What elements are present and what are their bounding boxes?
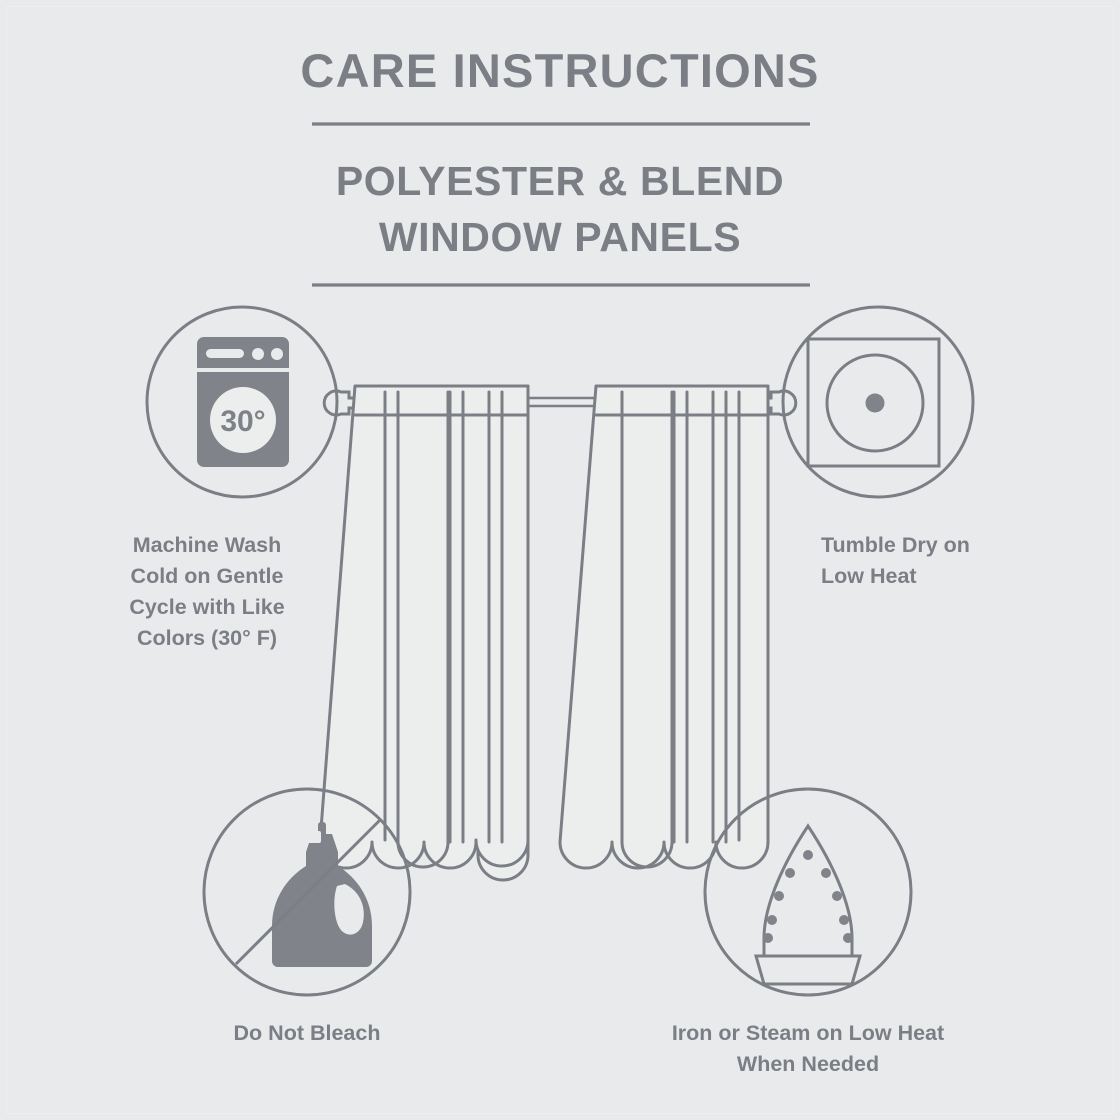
tumble-dry-low-icon	[808, 339, 939, 466]
iron-icon	[756, 826, 860, 984]
caption-line: Colors (30° F)	[137, 626, 277, 650]
caption-line: Tumble Dry on	[821, 533, 970, 557]
subtitle-line-2: WINDOW PANELS	[379, 214, 741, 260]
wash-temperature-badge: 30°	[220, 405, 265, 438]
bleach-bottle-crossed-icon	[236, 820, 380, 967]
do-not-bleach-caption: Do Not Bleach	[234, 1021, 381, 1045]
caption-line: Cycle with Like	[129, 595, 284, 619]
subtitle-line-1: POLYESTER & BLEND	[336, 158, 784, 204]
curtain-rod	[528, 398, 598, 406]
washing-machine-icon: 30°	[197, 337, 289, 467]
caption-line: Cold on Gentle	[131, 564, 284, 588]
caption-line: When Needed	[737, 1052, 879, 1076]
symbol-machine-wash[interactable]: 30° Machine Wash Cold on Gentle Cycle wi…	[129, 307, 337, 650]
caption-line: Iron or Steam on Low Heat	[672, 1021, 944, 1045]
iron-ring	[705, 789, 911, 995]
curtain-panel-right	[560, 386, 768, 868]
caption-line: Machine Wash	[133, 533, 282, 557]
symbol-tumble-dry[interactable]: Tumble Dry on Low Heat	[783, 307, 973, 588]
machine-wash-caption: Machine Wash Cold on Gentle Cycle with L…	[129, 533, 284, 650]
caption-line: Low Heat	[821, 564, 917, 588]
curtain-illustration	[320, 386, 796, 880]
care-instructions-infographic: CARE INSTRUCTIONS POLYESTER & BLEND WIND…	[0, 0, 1120, 1120]
iron-caption: Iron or Steam on Low Heat When Needed	[672, 1021, 944, 1076]
tumble-dry-caption: Tumble Dry on Low Heat	[821, 533, 970, 588]
curtain-panel-left	[320, 386, 528, 880]
page-title: CARE INSTRUCTIONS	[300, 44, 819, 97]
